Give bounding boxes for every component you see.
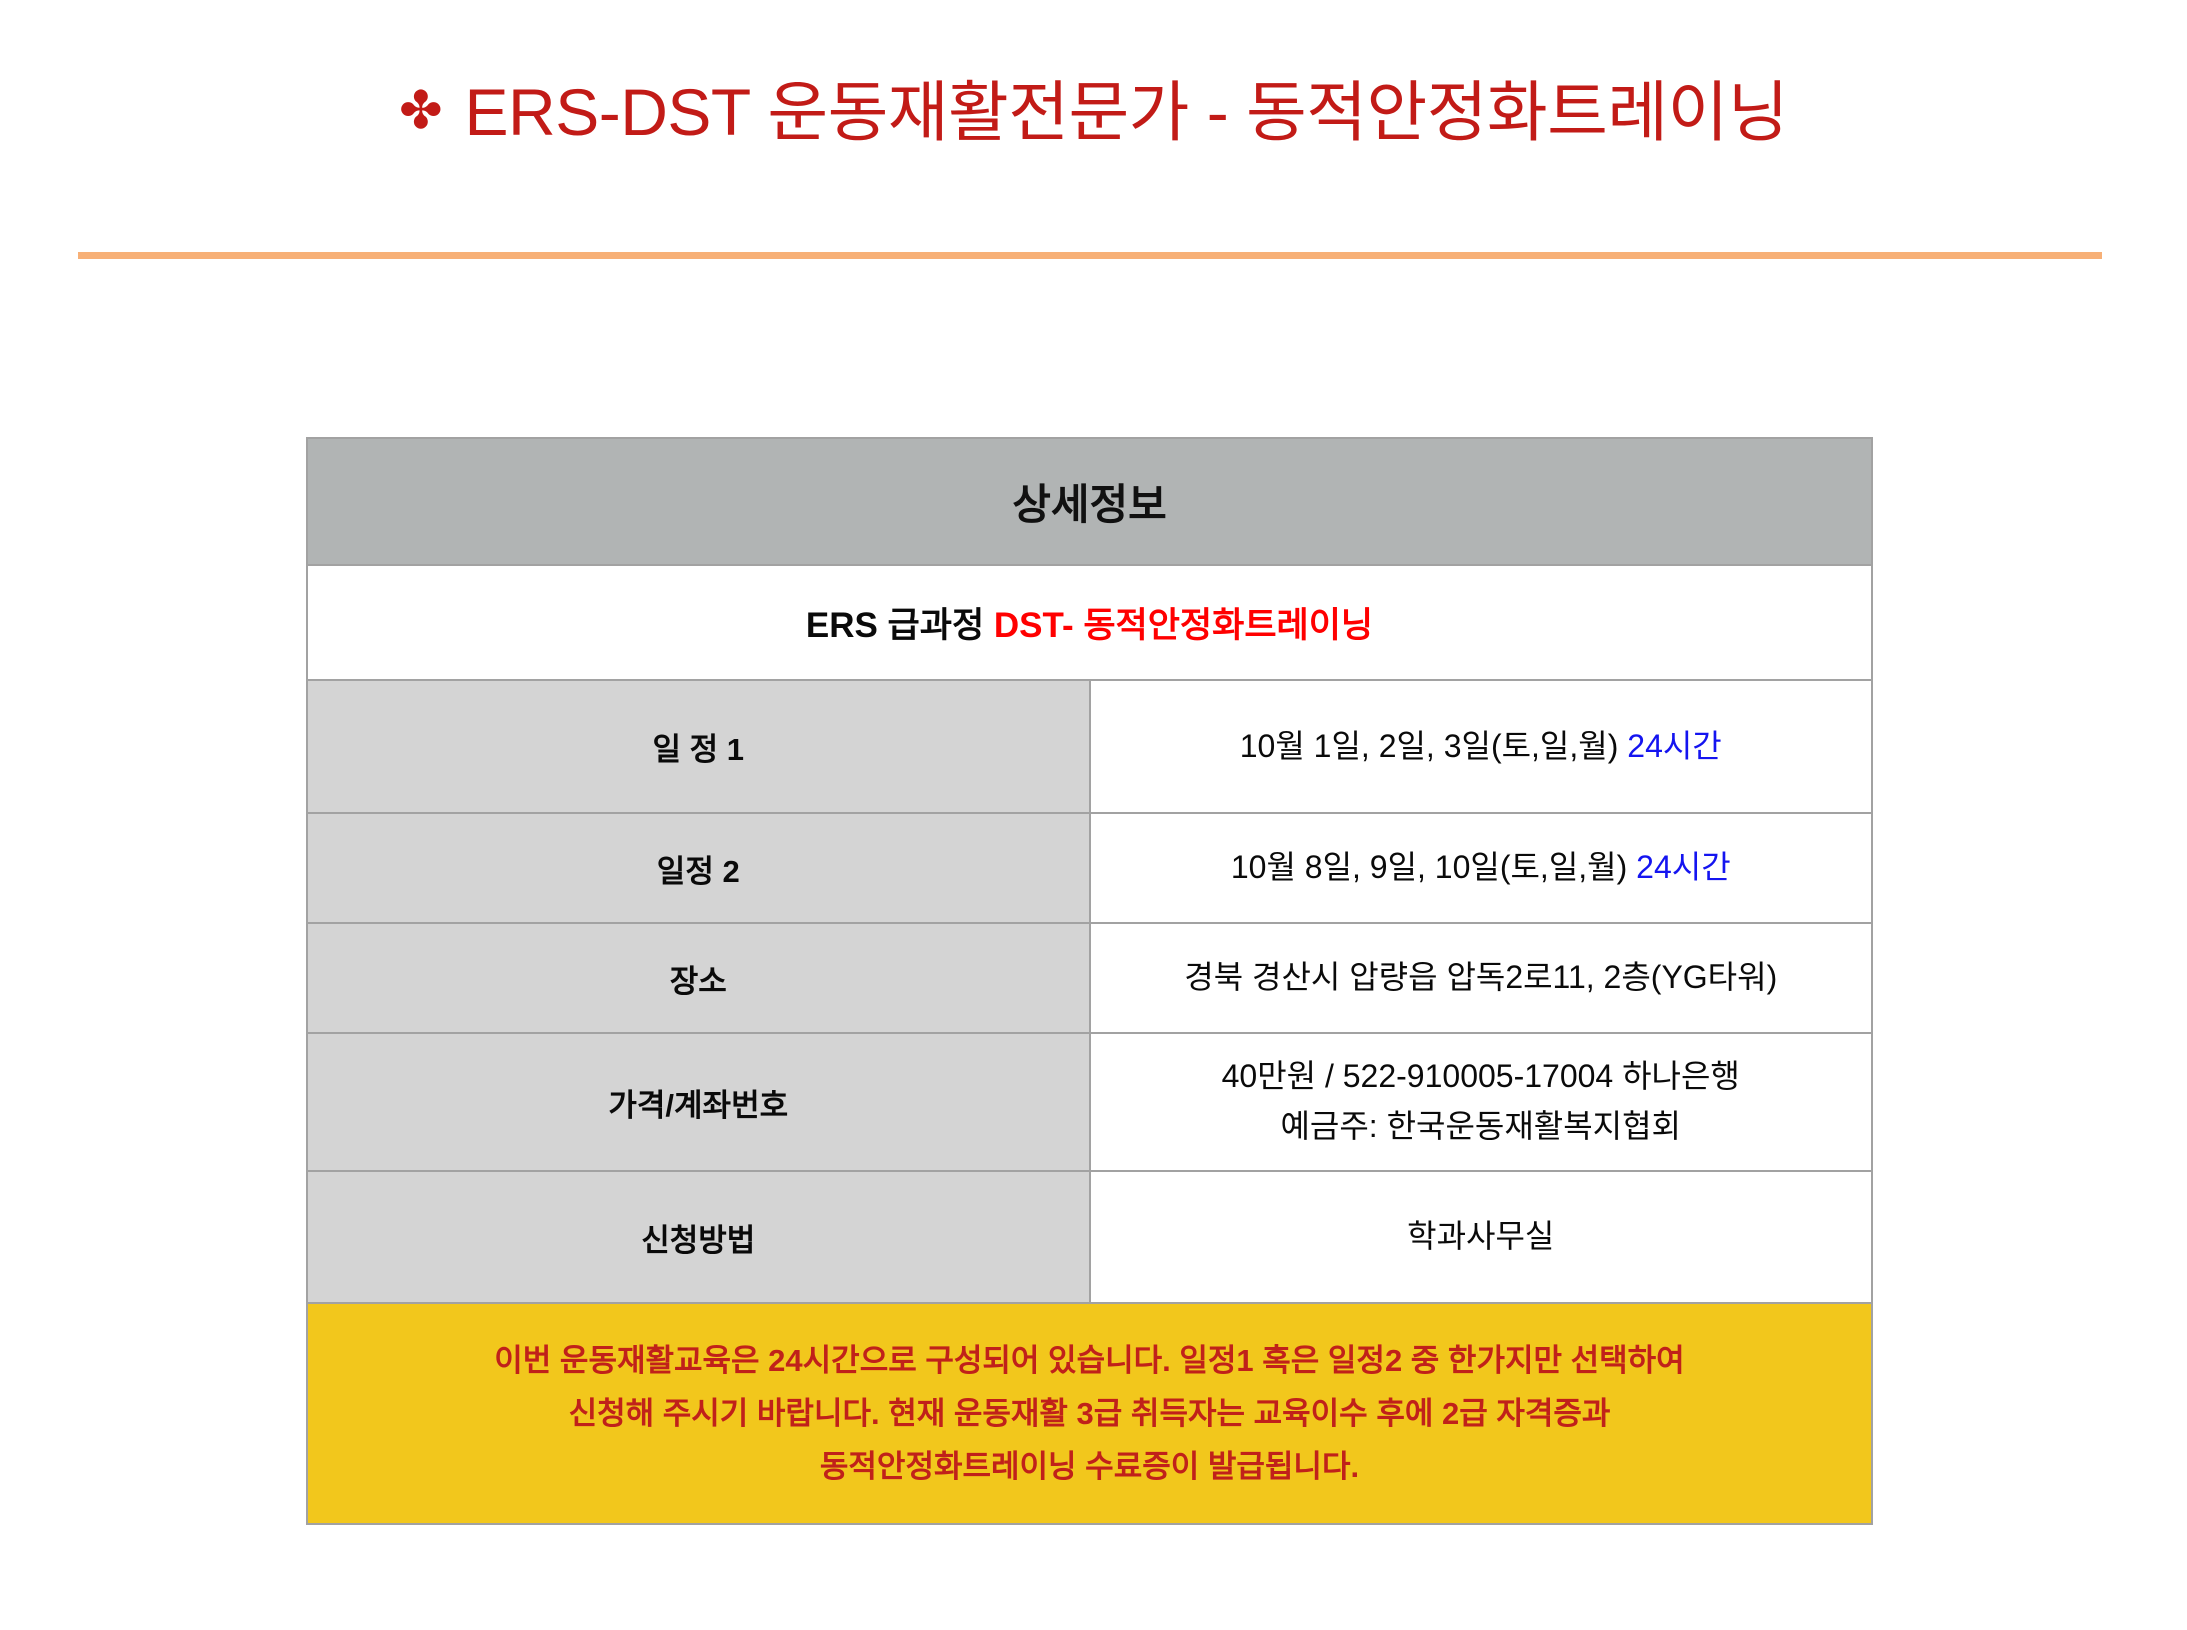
table-row: 일 정 1 10월 1일, 2일, 3일(토,일,월) 24시간 <box>307 680 1872 813</box>
notice-cell: 이번 운동재활교육은 24시간으로 구성되어 있습니다. 일정1 혹은 일정2 … <box>307 1303 1872 1524</box>
course-subtitle-plain: ERS 급과정 <box>806 606 994 645</box>
notice-line-2: 신청해 주시기 바랍니다. 현재 운동재활 3급 취득자는 교육이수 후에 2급… <box>308 1387 1871 1440</box>
row-label-location: 장소 <box>307 923 1090 1033</box>
row-value-schedule-1: 10월 1일, 2일, 3일(토,일,월) 24시간 <box>1090 680 1873 813</box>
row-label-price-account: 가격/계좌번호 <box>307 1033 1090 1171</box>
schedule-1-hours: 24시간 <box>1627 728 1721 764</box>
clover-icon: ✤ <box>399 85 443 137</box>
row-value-location: 경북 경산시 압량읍 압독2로11, 2층(YG타워) <box>1090 923 1873 1033</box>
page-title-text: ERS-DST 운동재활전문가 - 동적안정화트레이닝 <box>465 78 1789 147</box>
notice-line-1: 이번 운동재활교육은 24시간으로 구성되어 있습니다. 일정1 혹은 일정2 … <box>308 1334 1871 1387</box>
table-row: 신청방법 학과사무실 <box>307 1171 1872 1303</box>
detail-info-table: 상세정보 ERS 급과정 DST- 동적안정화트레이닝 일 정 1 10월 1일… <box>306 437 1873 1525</box>
row-label-application-method: 신청방법 <box>307 1171 1090 1303</box>
row-label-schedule-2: 일정 2 <box>307 813 1090 923</box>
row-value-schedule-2: 10월 8일, 9일, 10일(토,일,월) 24시간 <box>1090 813 1873 923</box>
schedule-2-dates: 10월 8일, 9일, 10일(토,일,월) <box>1231 849 1636 885</box>
price-account-line-1: 40만원 / 522-910005-17004 하나은행 <box>1091 1052 1872 1102</box>
table-header-cell: 상세정보 <box>307 438 1872 565</box>
course-subtitle-accent: DST- 동적안정화트레이닝 <box>994 606 1373 645</box>
table-header-row: 상세정보 <box>307 438 1872 565</box>
table-row: 일정 2 10월 8일, 9일, 10일(토,일,월) 24시간 <box>307 813 1872 923</box>
row-value-price-account: 40만원 / 522-910005-17004 하나은행 예금주: 한국운동재활… <box>1090 1033 1873 1171</box>
schedule-2-hours: 24시간 <box>1636 849 1730 885</box>
title-divider <box>78 252 2102 259</box>
page-title: ✤ ERS-DST 운동재활전문가 - 동적안정화트레이닝 <box>0 78 2187 147</box>
row-label-schedule-1: 일 정 1 <box>307 680 1090 813</box>
schedule-1-dates: 10월 1일, 2일, 3일(토,일,월) <box>1240 728 1628 764</box>
price-account-line-2: 예금주: 한국운동재활복지협회 <box>1091 1102 1872 1152</box>
table-subtitle-row: ERS 급과정 DST- 동적안정화트레이닝 <box>307 565 1872 680</box>
table-row: 장소 경북 경산시 압량읍 압독2로11, 2층(YG타워) <box>307 923 1872 1033</box>
table-row: 가격/계좌번호 40만원 / 522-910005-17004 하나은행 예금주… <box>307 1033 1872 1171</box>
row-value-application-method: 학과사무실 <box>1090 1171 1873 1303</box>
table-note-row: 이번 운동재활교육은 24시간으로 구성되어 있습니다. 일정1 혹은 일정2 … <box>307 1303 1872 1524</box>
course-subtitle-cell: ERS 급과정 DST- 동적안정화트레이닝 <box>307 565 1872 680</box>
notice-line-3: 동적안정화트레이닝 수료증이 발급됩니다. <box>308 1440 1871 1493</box>
